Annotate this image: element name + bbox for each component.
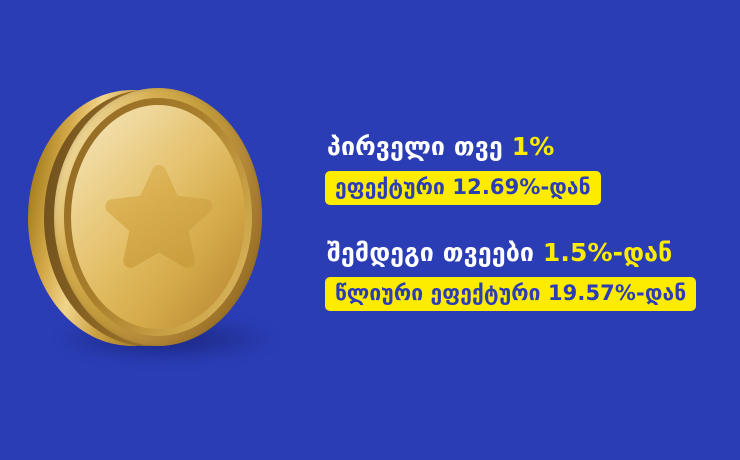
offer-effective-rate-pill: ეფექტური 12.69%-დან bbox=[325, 171, 601, 205]
offer-headline: შემდეგი თვეები 1.5%-დან bbox=[327, 236, 725, 270]
gold-coin-illustration bbox=[28, 88, 278, 350]
offer-headline-label: პირველი თვე bbox=[327, 132, 503, 161]
offer-pill-label: ეფექტური bbox=[335, 175, 445, 199]
offer-effective-rate-pill: წლიური ეფექტური 19.57%-დან bbox=[325, 277, 696, 311]
offer-headline: პირველი თვე 1% bbox=[327, 130, 725, 164]
offer-headline-rate: 1.5%-დან bbox=[543, 238, 672, 267]
promo-banner: პირველი თვე 1% ეფექტური 12.69%-დან შემდე… bbox=[0, 0, 740, 460]
offer-block-following-months: შემდეგი თვეები 1.5%-დან წლიური ეფექტური … bbox=[325, 236, 725, 311]
offer-block-first-month: პირველი თვე 1% ეფექტური 12.69%-დან bbox=[325, 130, 725, 205]
offer-text-panel: პირველი თვე 1% ეფექტური 12.69%-დან შემდე… bbox=[325, 130, 725, 311]
offer-pill-rate: 19.57%-დან bbox=[548, 281, 686, 305]
offer-headline-label: შემდეგი თვეები bbox=[327, 238, 534, 267]
star-icon bbox=[101, 160, 217, 272]
offer-pill-label: წლიური ეფექტური bbox=[335, 281, 541, 305]
offer-pill-rate: 12.69%-დან bbox=[452, 175, 590, 199]
offer-headline-rate: 1% bbox=[512, 132, 555, 161]
